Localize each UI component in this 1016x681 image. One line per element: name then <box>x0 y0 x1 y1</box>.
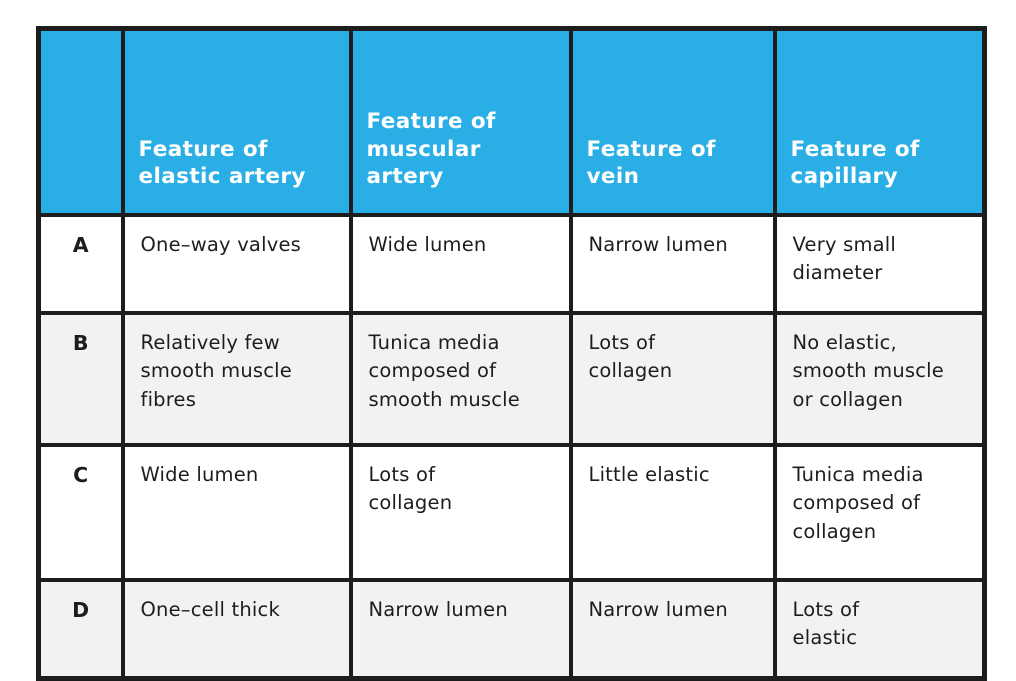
row-label-a: A <box>39 215 123 313</box>
cell-b-capillary: No elastic, smooth muscle or collagen <box>775 313 985 445</box>
cell-c-capillary: Tunica media composed of collagen <box>775 445 985 580</box>
vessel-feature-table: Feature of elastic artery Feature of mus… <box>36 26 987 681</box>
row-label-b: B <box>39 313 123 445</box>
header-label-muscular-artery: Feature of muscular artery <box>367 108 555 191</box>
cell-text-a-elastic-artery: One–way valves <box>141 231 335 259</box>
comparison-table-container: Feature of elastic artery Feature of mus… <box>36 26 982 654</box>
cell-text-a-muscular-artery: Wide lumen <box>369 231 555 259</box>
cell-text-b-capillary: No elastic, smooth muscle or collagen <box>793 329 969 414</box>
cell-d-capillary: Lots of elastic <box>775 580 985 678</box>
header-label-vein: Feature of vein <box>587 136 759 191</box>
table-row: C Wide lumen Lots of collagen Little ela… <box>39 445 985 580</box>
header-cell-muscular-artery: Feature of muscular artery <box>351 29 571 216</box>
cell-d-muscular-artery: Narrow lumen <box>351 580 571 678</box>
cell-c-elastic-artery: Wide lumen <box>123 445 351 580</box>
header-cell-vein: Feature of vein <box>571 29 775 216</box>
row-label-d: D <box>39 580 123 678</box>
table-header: Feature of elastic artery Feature of mus… <box>39 29 985 216</box>
cell-a-capillary: Very small diameter <box>775 215 985 313</box>
cell-c-vein: Little elastic <box>571 445 775 580</box>
header-label-capillary: Feature of capillary <box>791 136 969 191</box>
cell-a-elastic-artery: One–way valves <box>123 215 351 313</box>
cell-text-d-vein: Narrow lumen <box>589 596 759 624</box>
table-row: A One–way valves Wide lumen Narrow lumen… <box>39 215 985 313</box>
cell-text-a-capillary: Very small diameter <box>793 231 969 288</box>
cell-text-a-vein: Narrow lumen <box>589 231 759 259</box>
cell-b-vein: Lots of collagen <box>571 313 775 445</box>
cell-text-d-elastic-artery: One–cell thick <box>141 596 335 624</box>
cell-b-elastic-artery: Relatively few smooth muscle fibres <box>123 313 351 445</box>
cell-text-b-elastic-artery: Relatively few smooth muscle fibres <box>141 329 335 414</box>
row-label-c: C <box>39 445 123 580</box>
cell-d-elastic-artery: One–cell thick <box>123 580 351 678</box>
cell-a-vein: Narrow lumen <box>571 215 775 313</box>
cell-c-muscular-artery: Lots of collagen <box>351 445 571 580</box>
cell-b-muscular-artery: Tunica media composed of smooth muscle <box>351 313 571 445</box>
table-body: A One–way valves Wide lumen Narrow lumen… <box>39 215 985 678</box>
header-cell-corner <box>39 29 123 216</box>
header-label-elastic-artery: Feature of elastic artery <box>139 136 335 191</box>
cell-text-b-vein: Lots of collagen <box>589 329 759 386</box>
cell-text-c-capillary: Tunica media composed of collagen <box>793 461 969 546</box>
cell-text-c-elastic-artery: Wide lumen <box>141 461 335 489</box>
cell-text-c-muscular-artery: Lots of collagen <box>369 461 555 518</box>
header-cell-elastic-artery: Feature of elastic artery <box>123 29 351 216</box>
cell-d-vein: Narrow lumen <box>571 580 775 678</box>
cell-text-b-muscular-artery: Tunica media composed of smooth muscle <box>369 329 555 414</box>
cell-text-d-muscular-artery: Narrow lumen <box>369 596 555 624</box>
cell-text-c-vein: Little elastic <box>589 461 759 489</box>
header-row: Feature of elastic artery Feature of mus… <box>39 29 985 216</box>
cell-a-muscular-artery: Wide lumen <box>351 215 571 313</box>
cell-text-d-capillary: Lots of elastic <box>793 596 969 653</box>
table-row: D One–cell thick Narrow lumen Narrow lum… <box>39 580 985 678</box>
header-cell-capillary: Feature of capillary <box>775 29 985 216</box>
table-row: B Relatively few smooth muscle fibres Tu… <box>39 313 985 445</box>
